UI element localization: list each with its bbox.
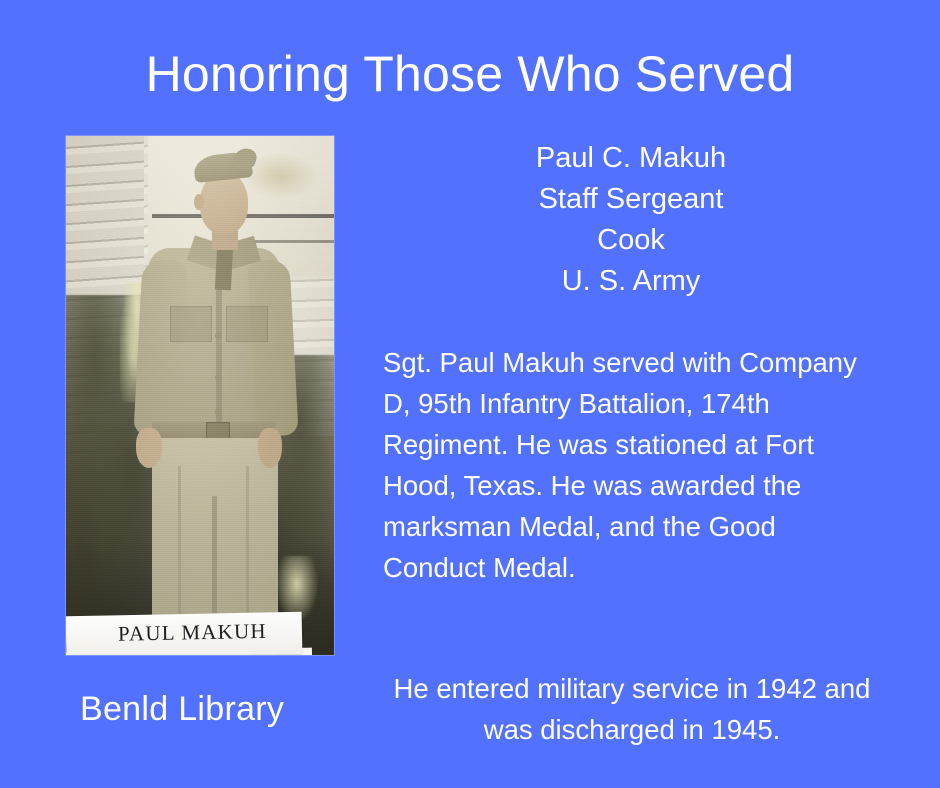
veteran-branch: U. S. Army (383, 261, 879, 302)
photo-scene: PAUL MAKUH (66, 136, 334, 655)
veteran-role: Cook (383, 220, 879, 261)
veteran-rank: Staff Sergeant (383, 179, 879, 220)
photo-caption: PAUL MAKUH (118, 618, 298, 646)
veteran-service-dates: He entered military service in 1942 and … (383, 668, 881, 750)
veteran-name: Paul C. Makuh (383, 138, 879, 179)
library-credit: Benld Library (80, 690, 284, 729)
page-title: Honoring Those Who Served (0, 48, 940, 101)
honoring-those-who-served-poster: Honoring Those Who Served (0, 0, 940, 788)
veteran-biography: Sgt. Paul Makuh served with Company D, 9… (383, 342, 881, 588)
veteran-identity-block: Paul C. Makuh Staff Sergeant Cook U. S. … (383, 138, 879, 302)
photo-grain-overlay (66, 136, 334, 655)
veteran-photograph: PAUL MAKUH (66, 136, 334, 655)
